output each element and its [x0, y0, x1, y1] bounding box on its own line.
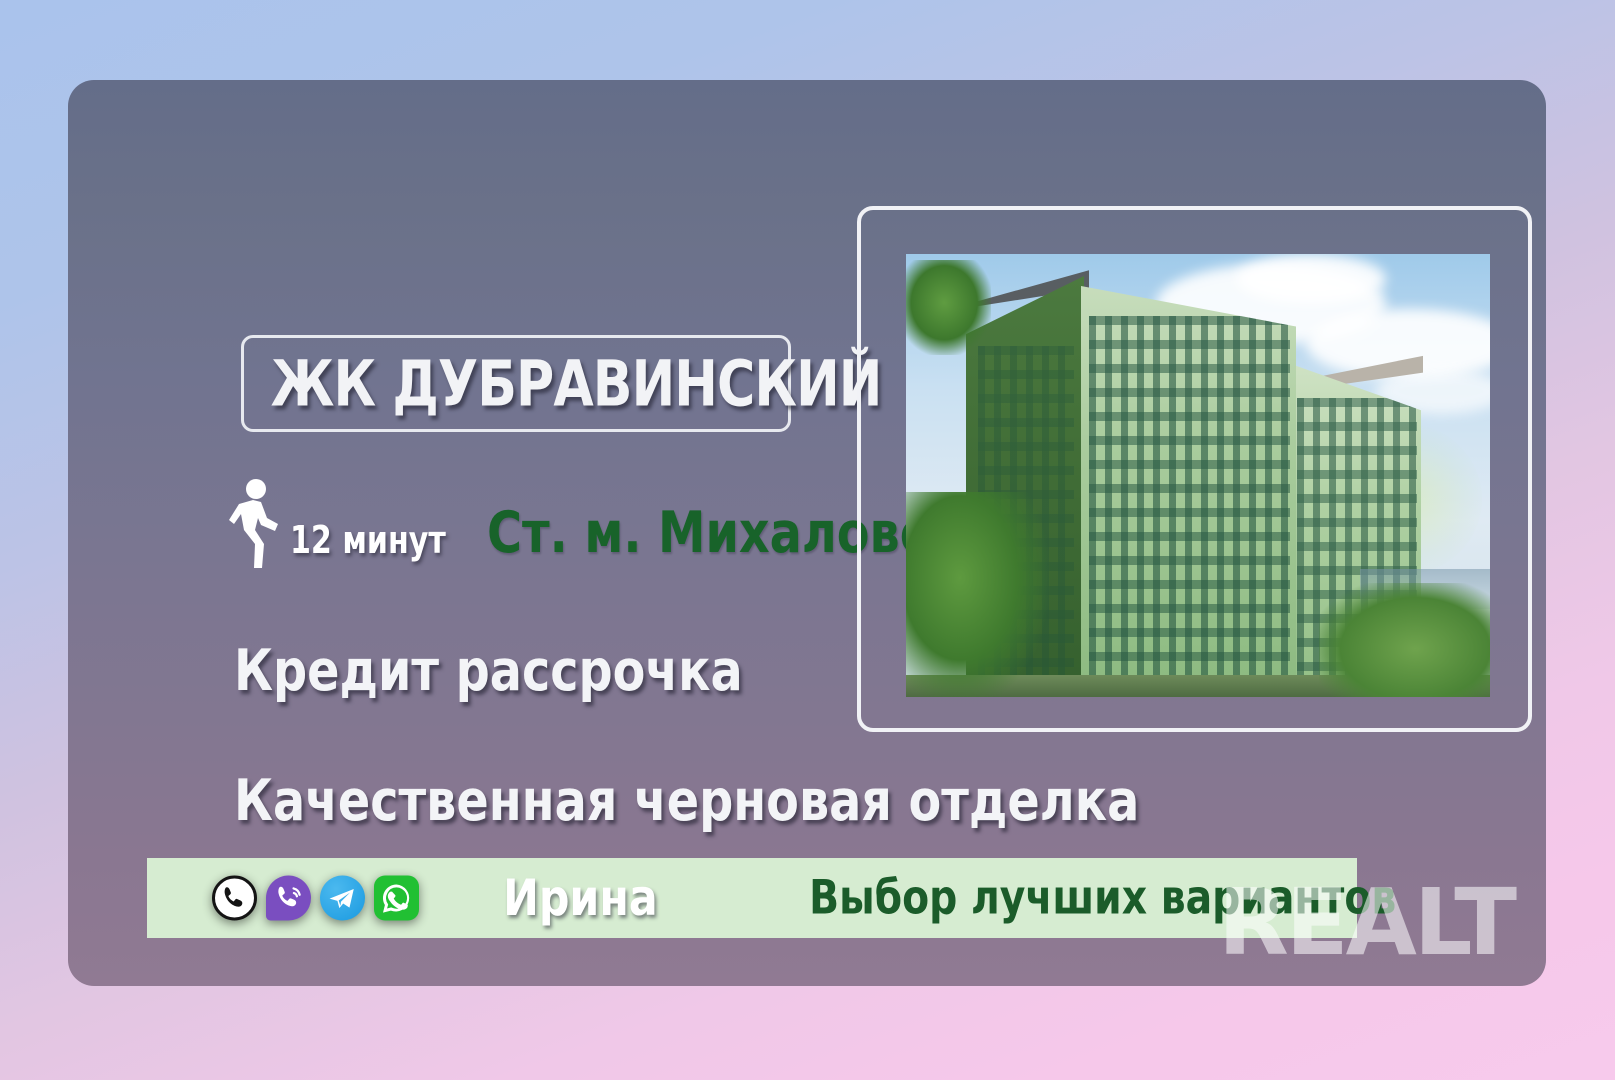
- walk-time-text: 12 минут: [290, 518, 446, 562]
- project-title-plate: ЖК ДУБРАВИНСКИЙ: [241, 335, 791, 432]
- walking-person-icon: [228, 478, 284, 570]
- walk-time-label: 12 минут: [290, 518, 467, 570]
- cloud-shape: [1236, 254, 1386, 304]
- project-title: ЖК ДУБРАВИНСКИЙ: [244, 347, 788, 420]
- contact-icons-group: [212, 876, 419, 921]
- manager-name: Ирина: [499, 869, 662, 927]
- feature-credit: Кредит рассрочка: [234, 638, 781, 704]
- feature-credit-text: Кредит рассрочка: [234, 638, 743, 704]
- tree-foliage: [1319, 583, 1490, 697]
- window-grid: [1089, 316, 1290, 685]
- phone-icon[interactable]: [212, 876, 257, 921]
- building-photo: [906, 254, 1490, 697]
- building-photo-frame: [857, 206, 1532, 732]
- telegram-icon[interactable]: [320, 876, 365, 921]
- tagline: Выбор лучших вариантов: [787, 871, 1418, 926]
- building-main-facade: [1081, 286, 1296, 691]
- feature-finishing-text: Качественная черновая отделка: [234, 768, 1139, 834]
- viber-icon[interactable]: [266, 876, 311, 921]
- whatsapp-icon[interactable]: [374, 876, 419, 921]
- tagline-text: Выбор лучших вариантов: [809, 871, 1396, 926]
- tree-foliage: [906, 492, 1050, 697]
- feature-finishing: Качественная черновая отделка: [234, 768, 1207, 834]
- manager-name-text: Ирина: [503, 869, 658, 927]
- contact-bar: Ирина Выбор лучших вариантов: [147, 858, 1357, 938]
- promo-banner-card: ЖК ДУБРАВИНСКИЙ 12 минут Ст. м. Михалово…: [68, 80, 1546, 986]
- tree-foliage: [906, 260, 991, 355]
- project-title-text: ЖК ДУБРАВИНСКИЙ: [271, 347, 882, 420]
- metro-distance-row: 12 минут Ст. м. Михалово: [228, 475, 966, 570]
- left-content-column: ЖК ДУБРАВИНСКИЙ 12 минут Ст. м. Михалово…: [68, 80, 848, 986]
